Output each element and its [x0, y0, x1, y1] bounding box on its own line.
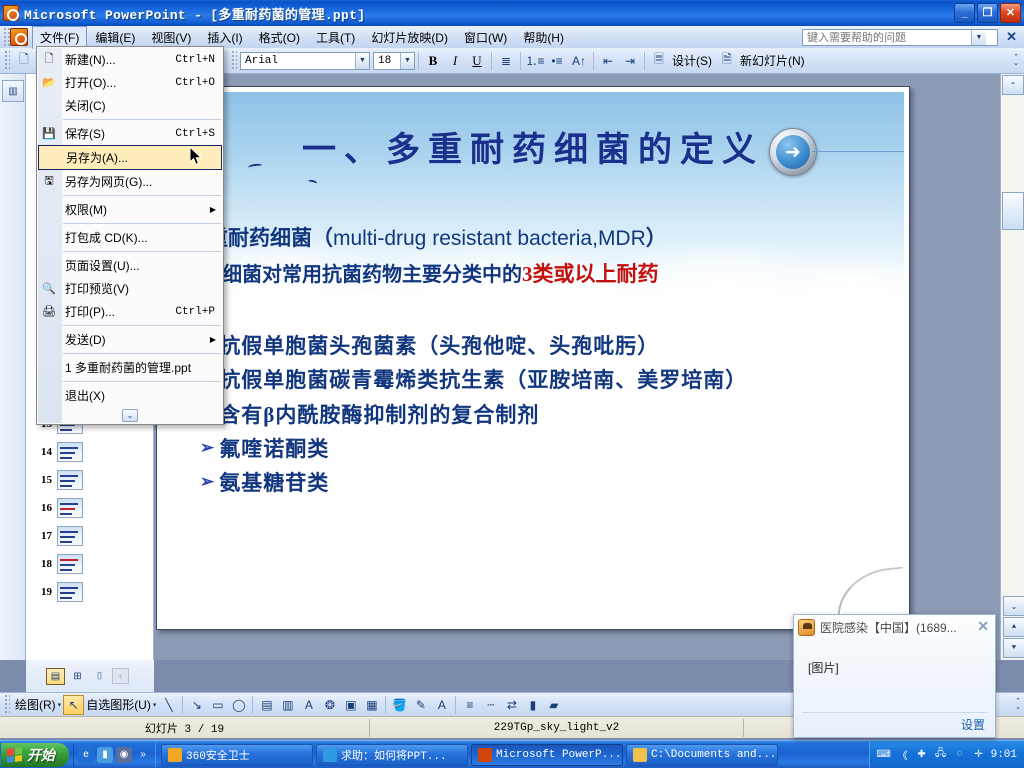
update-icon[interactable]: ✛ — [972, 748, 986, 762]
windows-logo-icon — [7, 746, 22, 762]
toolbar-separator — [520, 52, 521, 70]
italic-button[interactable]: I — [444, 50, 466, 72]
slide-thumbnail-17[interactable]: 17 — [26, 522, 153, 550]
qq-popup-body: [图片] — [794, 637, 995, 676]
sound-icon[interactable]: ◌ — [953, 748, 967, 762]
menu-item-退出X[interactable]: 退出(X) — [37, 384, 223, 407]
menu-item-label: 发送(D) — [65, 331, 210, 348]
internet-explorer-icon[interactable]: e — [78, 747, 94, 763]
toolbar-separator — [491, 52, 492, 70]
draw-menu-label[interactable]: 绘图(R) — [13, 696, 58, 713]
font-color-tool[interactable]: A — [431, 695, 452, 715]
menu-item-label: 关闭(C) — [65, 97, 223, 114]
slide-preview[interactable] — [57, 582, 83, 602]
menu-item-label: 打印(P)... — [65, 303, 175, 320]
menu-item-label: 打印预览(V) — [65, 280, 223, 297]
chevron-down-icon[interactable]: ▼ — [400, 53, 414, 69]
menu-item-label: 新建(N)... — [65, 51, 175, 68]
bullet-marker-icon: ➢ — [200, 469, 214, 495]
printer-icon: 🖨 — [40, 303, 58, 320]
restore-button[interactable]: ❐ — [977, 3, 998, 23]
menu-item-打开O[interactable]: 📂打开(O)...Ctrl+O — [37, 71, 223, 94]
toolbar-grip-3[interactable] — [230, 51, 237, 71]
menu-separator — [63, 223, 221, 224]
system-tray: ⌨《✚🖧◌✛9:01 — [869, 741, 1024, 768]
diagram-tool[interactable]: ❂ — [319, 695, 340, 715]
text-box-tool[interactable]: ▤ — [256, 695, 277, 715]
ask-a-question-box[interactable]: ▼ — [802, 29, 998, 46]
media-player-icon[interactable]: ◉ — [116, 747, 132, 763]
bullet-list-icon[interactable]: •≡ — [546, 50, 568, 72]
drawbar-overflow-icon[interactable]: ⌃⌄ — [1012, 694, 1024, 716]
taskbar-item-icon — [633, 748, 647, 762]
chevron-double-down-icon[interactable]: ⌄ — [122, 409, 138, 422]
right-arrow-icon: ➜ — [776, 135, 810, 169]
slide-number: 18 — [30, 558, 52, 570]
slide-counter: 幻灯片 3 / 19 — [0, 719, 370, 737]
arrow-badge: ➜ — [769, 128, 817, 176]
menu-item-label: 另存为(A)... — [66, 149, 221, 166]
slide-preview[interactable] — [57, 470, 83, 490]
menu-item-label: 另存为网页(G)... — [65, 173, 223, 190]
slide-thumbnail-18[interactable]: 18 — [26, 550, 153, 578]
slide-bullet-item[interactable]: ➢抗假单胞菌碳青霉烯类抗生素（亚胺培南、美罗培南） — [200, 366, 890, 394]
menu-item-shortcut: Ctrl+N — [175, 54, 223, 66]
increase-indent-icon[interactable]: ⇥ — [619, 50, 641, 72]
menu-item-发送D[interactable]: 发送(D)▶ — [37, 328, 223, 351]
definition-line2-text: 是指细菌对常用抗菌药物主要分类中的 — [182, 264, 522, 286]
slide-preview[interactable] — [57, 498, 83, 518]
menu-separator — [63, 195, 221, 196]
qq-group-avatar-icon — [798, 619, 815, 636]
toolbar-separator — [385, 696, 386, 714]
ime-toggle-icon[interactable]: 《 — [896, 748, 910, 762]
slide-show-button[interactable]: ⌷ — [90, 668, 109, 685]
numbered-list-icon[interactable]: ⒈≡ — [524, 50, 546, 72]
toolbar-separator — [182, 696, 183, 714]
arrow-tool[interactable]: ↘ — [186, 695, 207, 715]
slide-number: 19 — [30, 586, 52, 598]
slide-bullet-item[interactable]: ➢氟喹诺酮类 — [200, 435, 890, 463]
menubar-grip[interactable] — [2, 28, 10, 46]
new-document-icon: 🗋 — [40, 51, 58, 68]
menu-item-label: 权限(M) — [65, 201, 210, 218]
menu-item-保存S[interactable]: 💾保存(S)Ctrl+S — [37, 122, 223, 145]
window-title: Microsoft PowerPoint - [多重耐药菌的管理.ppt] — [24, 4, 365, 23]
line-tool[interactable]: ╲ — [158, 695, 179, 715]
windows-taskbar: 开始e▮◉»360安全卫士求助：如何将PPT...Microsoft Power… — [0, 740, 1024, 768]
slide-number: 16 — [30, 502, 52, 514]
design-button[interactable]: 🗏 设计(S) — [648, 50, 716, 72]
new-slide-icon: 🗎 — [716, 50, 738, 72]
menu-item-shortcut: Ctrl+S — [175, 128, 223, 140]
task-list: 360安全卫士求助：如何将PPT...Microsoft PowerP...C:… — [161, 744, 869, 766]
line-style-tool[interactable]: ≡ — [459, 695, 480, 715]
qq-message-popup[interactable]: 医院感染【中国】(1689... ✕ [图片] 设置 — [793, 614, 996, 738]
slide-bullet-item[interactable]: ➢氨基糖苷类 — [200, 469, 890, 497]
view-tab-strip: ▥ — [0, 74, 26, 660]
font-combobox[interactable]: Arial ▼ — [240, 52, 370, 70]
scroll-down-button[interactable]: ⌄ — [1003, 596, 1024, 616]
3d-style-tool[interactable]: ▰ — [543, 695, 564, 715]
window-titlebar: Microsoft PowerPoint - [多重耐药菌的管理.ppt] _ … — [0, 0, 1024, 26]
slide-thumbnail-19[interactable]: 19 — [26, 578, 153, 606]
slide-frame: 一、多重耐药细菌的定义 ➜ 多重耐药细菌（multi-drug resistan… — [156, 86, 910, 630]
taskbar-item-3[interactable]: C:\Documents and... — [626, 744, 778, 766]
menu-item-label: 页面设置(U)... — [65, 257, 223, 274]
minimize-icon: _ — [961, 8, 967, 19]
chevron-down-icon[interactable]: ▼ — [355, 53, 369, 69]
menu-item-打印预览V[interactable]: 🔍打印预览(V) — [37, 277, 223, 300]
close-icon: ✕ — [1006, 8, 1015, 19]
fill-color-tool[interactable]: 🪣 — [389, 695, 410, 715]
window-controls: _ ❐ ✕ — [954, 3, 1021, 23]
slide-preview[interactable] — [57, 526, 83, 546]
line-color-tool[interactable]: ✎ — [410, 695, 431, 715]
bullet-text: 氟喹诺酮类 — [219, 435, 890, 463]
menu-item-shortcut: Ctrl+O — [175, 77, 223, 89]
menu-bar: 文件(F) 编辑(E) 视图(V) 插入(I) 格式(O) 工具(T) 幻灯片放… — [0, 26, 1024, 48]
definition-english: multi-drug resistant bacteria,MDR — [333, 227, 646, 250]
toolbar-separator — [593, 52, 594, 70]
next-slide-button[interactable]: ⯆ — [1003, 638, 1024, 658]
taskbar-item-icon — [168, 748, 182, 762]
slide-bullet-item[interactable]: ➢抗假单胞菌头孢菌素（头孢他啶、头孢吡肟） — [200, 332, 890, 360]
align-left-icon[interactable]: ≣ — [495, 50, 517, 72]
slide-preview[interactable] — [57, 442, 83, 462]
slide-bullet-item[interactable]: ➢含有β内酰胺酶抑制剂的复合制剂 — [200, 401, 890, 429]
taskbar-item-icon — [478, 748, 492, 762]
taskbar-item-label: 求助：如何将PPT... — [341, 747, 447, 763]
submenu-arrow-icon: ▶ — [210, 205, 223, 214]
scroll-up-button[interactable]: ⌃ — [1002, 75, 1024, 95]
slide-preview[interactable] — [57, 554, 83, 574]
menu-help[interactable]: 帮助(H) — [515, 26, 572, 49]
slide-bullet-list[interactable]: ➢抗假单胞菌头孢菌素（头孢他啶、头孢吡肟）➢抗假单胞菌碳青霉烯类抗生素（亚胺培南… — [200, 332, 890, 504]
previous-slide-button[interactable]: ⯅ — [1003, 617, 1024, 637]
bullet-text: 氨基糖苷类 — [219, 469, 890, 497]
menu-window[interactable]: 窗口(W) — [456, 26, 515, 49]
ime-pinyin-icon[interactable]: ✚ — [915, 748, 929, 762]
open-folder-icon: 📂 — [40, 74, 58, 91]
menu-item-label: 退出(X) — [65, 387, 223, 404]
design-icon: 🗏 — [648, 50, 670, 72]
help-search-input[interactable] — [803, 30, 971, 45]
close-button[interactable]: ✕ — [1000, 3, 1021, 23]
oval-tool[interactable]: ◯ — [228, 695, 249, 715]
menu-tools[interactable]: 工具(T) — [308, 26, 363, 49]
menu-item-label: 1 多重耐药菌的管理.ppt — [65, 359, 223, 376]
design-label: 设计(S) — [670, 52, 716, 69]
new-document-icon[interactable]: 🗋 — [13, 50, 35, 72]
minimize-button[interactable]: _ — [954, 3, 975, 23]
qq-settings-link[interactable]: 设置 — [961, 716, 985, 733]
taskbar-item-0[interactable]: 360安全卫士 — [161, 744, 313, 766]
menu-item-label: 打包成 CD(K)... — [65, 229, 223, 246]
normal-view-button[interactable]: ▤ — [46, 668, 65, 685]
underline-button[interactable]: U — [466, 50, 488, 72]
menu-separator — [63, 325, 221, 326]
menu-separator — [63, 251, 221, 252]
dash-style-tool[interactable]: ┄ — [480, 695, 501, 715]
bullet-text: 含有β内酰胺酶抑制剂的复合制剂 — [219, 401, 890, 429]
menu-item-label: 打开(O)... — [65, 74, 175, 91]
restore-icon: ❐ — [983, 8, 993, 19]
font-size-value: 18 — [374, 55, 400, 67]
definition-suffix: ） — [646, 226, 667, 250]
picture-tool[interactable]: ▦ — [361, 695, 382, 715]
qq-popup-header: 医院感染【中国】(1689... ✕ — [794, 615, 995, 637]
taskbar-item-icon — [323, 748, 337, 762]
scroll-left-button[interactable]: ‹ — [112, 668, 129, 684]
taskbar-item-1[interactable]: 求助：如何将PPT... — [316, 744, 468, 766]
rectangle-tool[interactable]: ▭ — [207, 695, 228, 715]
slide-edit-area[interactable]: 一、多重耐药细菌的定义 ➜ 多重耐药细菌（multi-drug resistan… — [154, 74, 1000, 660]
autoshapes-menu-label[interactable]: 自选图形(U) — [84, 696, 153, 713]
toolbar-separator — [644, 52, 645, 70]
taskbar-item-label: C:\Documents and... — [651, 749, 776, 761]
show-desktop-icon[interactable]: ▮ — [97, 747, 113, 763]
wordart-tool[interactable]: A — [298, 695, 319, 715]
toolbar-separator — [418, 52, 419, 70]
slide-thumbnail-15[interactable]: 15 — [26, 466, 153, 494]
menu-slideshow[interactable]: 幻灯片放映(D) — [363, 26, 456, 49]
arrow-style-tool[interactable]: ⇄ — [501, 695, 522, 715]
quick-launch-bar: e▮◉» — [73, 743, 156, 767]
slide-definition-line[interactable]: 多重耐药细菌（multi-drug resistant bacteria,MDR… — [186, 222, 886, 252]
document-icon — [10, 28, 28, 46]
new-slide-button[interactable]: 🗎 新幻灯片(N) — [716, 50, 809, 72]
slide-number: 15 — [30, 474, 52, 486]
vertical-text-box-tool[interactable]: ▥ — [277, 695, 298, 715]
shadow-style-tool[interactable]: ▮ — [522, 695, 543, 715]
view-buttons-bar: ▤ ⊞ ⌷ ‹ — [26, 660, 154, 692]
title-divider — [812, 151, 904, 152]
menu-item-打印P[interactable]: 🖨打印(P)...Ctrl+P — [37, 300, 223, 323]
menu-item-另存为网页G[interactable]: 🖫另存为网页(G)... — [37, 170, 223, 193]
menu-item-label: 保存(S) — [65, 125, 175, 142]
bold-button[interactable]: B — [422, 50, 444, 72]
toolbar-grip-1[interactable] — [3, 51, 10, 71]
bullet-text: 抗假单胞菌碳青霉烯类抗生素（亚胺培南、美罗培南） — [219, 366, 890, 394]
start-label: 开始 — [27, 745, 55, 765]
menu-format[interactable]: 格式(O) — [251, 26, 308, 49]
taskbar-item-label: 360安全卫士 — [186, 747, 250, 763]
menu-item-权限M[interactable]: 权限(M)▶ — [37, 198, 223, 221]
menu-separator — [63, 119, 221, 120]
select-arrow-tool[interactable]: ↖ — [63, 695, 84, 715]
menu-item-1多重耐药菌的管理ppt[interactable]: 1 多重耐药菌的管理.ppt — [37, 356, 223, 379]
taskbar-clock[interactable]: 9:01 — [991, 749, 1017, 761]
print-preview-icon: 🔍 — [40, 280, 58, 297]
slide-canvas[interactable]: 一、多重耐药细菌的定义 ➜ 多重耐药细菌（multi-drug resistan… — [162, 92, 904, 624]
slide-thumbnail-16[interactable]: 16 — [26, 494, 153, 522]
quicklaunch-overflow-icon[interactable]: » — [135, 747, 151, 763]
keyboard-ime-icon[interactable]: ⌨ — [877, 748, 891, 762]
close-icon[interactable]: ✕ — [977, 618, 989, 635]
file-menu-dropdown[interactable]: 🗋新建(N)...Ctrl+N📂打开(O)...Ctrl+O关闭(C)💾保存(S… — [36, 46, 224, 425]
save-as-web-icon: 🖫 — [40, 173, 58, 190]
bullet-marker-icon: ➢ — [200, 435, 214, 461]
qq-popup-title: 医院感染【中国】(1689... — [820, 619, 957, 636]
definition-line2-highlight: 3类或以上耐药 — [522, 262, 659, 286]
chevron-down-icon[interactable]: ▼ — [971, 30, 986, 45]
slide-definition-line2[interactable]: 是指细菌对常用抗菌药物主要分类中的3类或以上耐药 — [182, 258, 894, 288]
toolbar-separator — [455, 696, 456, 714]
menu-item-页面设置U[interactable]: 页面设置(U)... — [37, 254, 223, 277]
menu-separator — [63, 353, 221, 354]
start-button[interactable]: 开始 — [1, 743, 69, 767]
scrollbar-thumb[interactable] — [1002, 192, 1024, 230]
submenu-arrow-icon: ▶ — [210, 335, 223, 344]
menu-item-shortcut: Ctrl+P — [175, 306, 223, 318]
expand-menu-row[interactable]: ⌄ — [37, 407, 223, 424]
clip-art-tool[interactable]: ▣ — [340, 695, 361, 715]
toolbar-overflow-icon-2[interactable]: ⌃⌄ — [1010, 50, 1022, 72]
menu-item-打包成CDK[interactable]: 打包成 CD(K)... — [37, 226, 223, 249]
close-document-button[interactable]: ✕ — [1006, 30, 1017, 44]
bullet-text: 抗假单胞菌头孢菌素（头孢他啶、头孢吡肟） — [219, 332, 890, 360]
taskbar-item-label: Microsoft PowerP... — [496, 749, 621, 761]
scrollbar-bottom-group: ⌄ ⯅ ⯆ — [1002, 595, 1024, 659]
save-disk-icon: 💾 — [40, 125, 58, 142]
slide-thumbnail-14[interactable]: 14 — [26, 438, 153, 466]
network-icon[interactable]: 🖧 — [934, 748, 948, 762]
slide-sorter-button[interactable]: ⊞ — [68, 668, 87, 685]
decrease-indent-icon[interactable]: ⇤ — [597, 50, 619, 72]
drawbar-grip[interactable] — [3, 695, 10, 715]
taskbar-item-2[interactable]: Microsoft PowerP... — [471, 744, 623, 766]
vertical-scrollbar[interactable]: ⌃ ⌄ ⯅ ⯆ — [1000, 74, 1024, 660]
menu-separator — [63, 381, 221, 382]
design-template-name: 229TGp_sky_light_v2 — [370, 719, 744, 737]
qq-popup-divider — [802, 712, 987, 713]
font-size-combobox[interactable]: 18 ▼ — [373, 52, 415, 70]
slide-number: 14 — [30, 446, 52, 458]
outline-tab[interactable]: ▥ — [2, 80, 24, 102]
powerpoint-app-icon — [3, 5, 19, 21]
menu-item-关闭C[interactable]: 关闭(C) — [37, 94, 223, 117]
slide-number: 17 — [30, 530, 52, 542]
increase-font-icon[interactable]: A↑ — [568, 50, 590, 72]
toolbar-separator — [252, 696, 253, 714]
menu-item-新建N[interactable]: 🗋新建(N)...Ctrl+N — [37, 48, 223, 71]
new-slide-label: 新幻灯片(N) — [738, 52, 809, 69]
menu-item-另存为A[interactable]: 另存为(A)... — [38, 145, 222, 170]
font-value: Arial — [241, 55, 355, 67]
